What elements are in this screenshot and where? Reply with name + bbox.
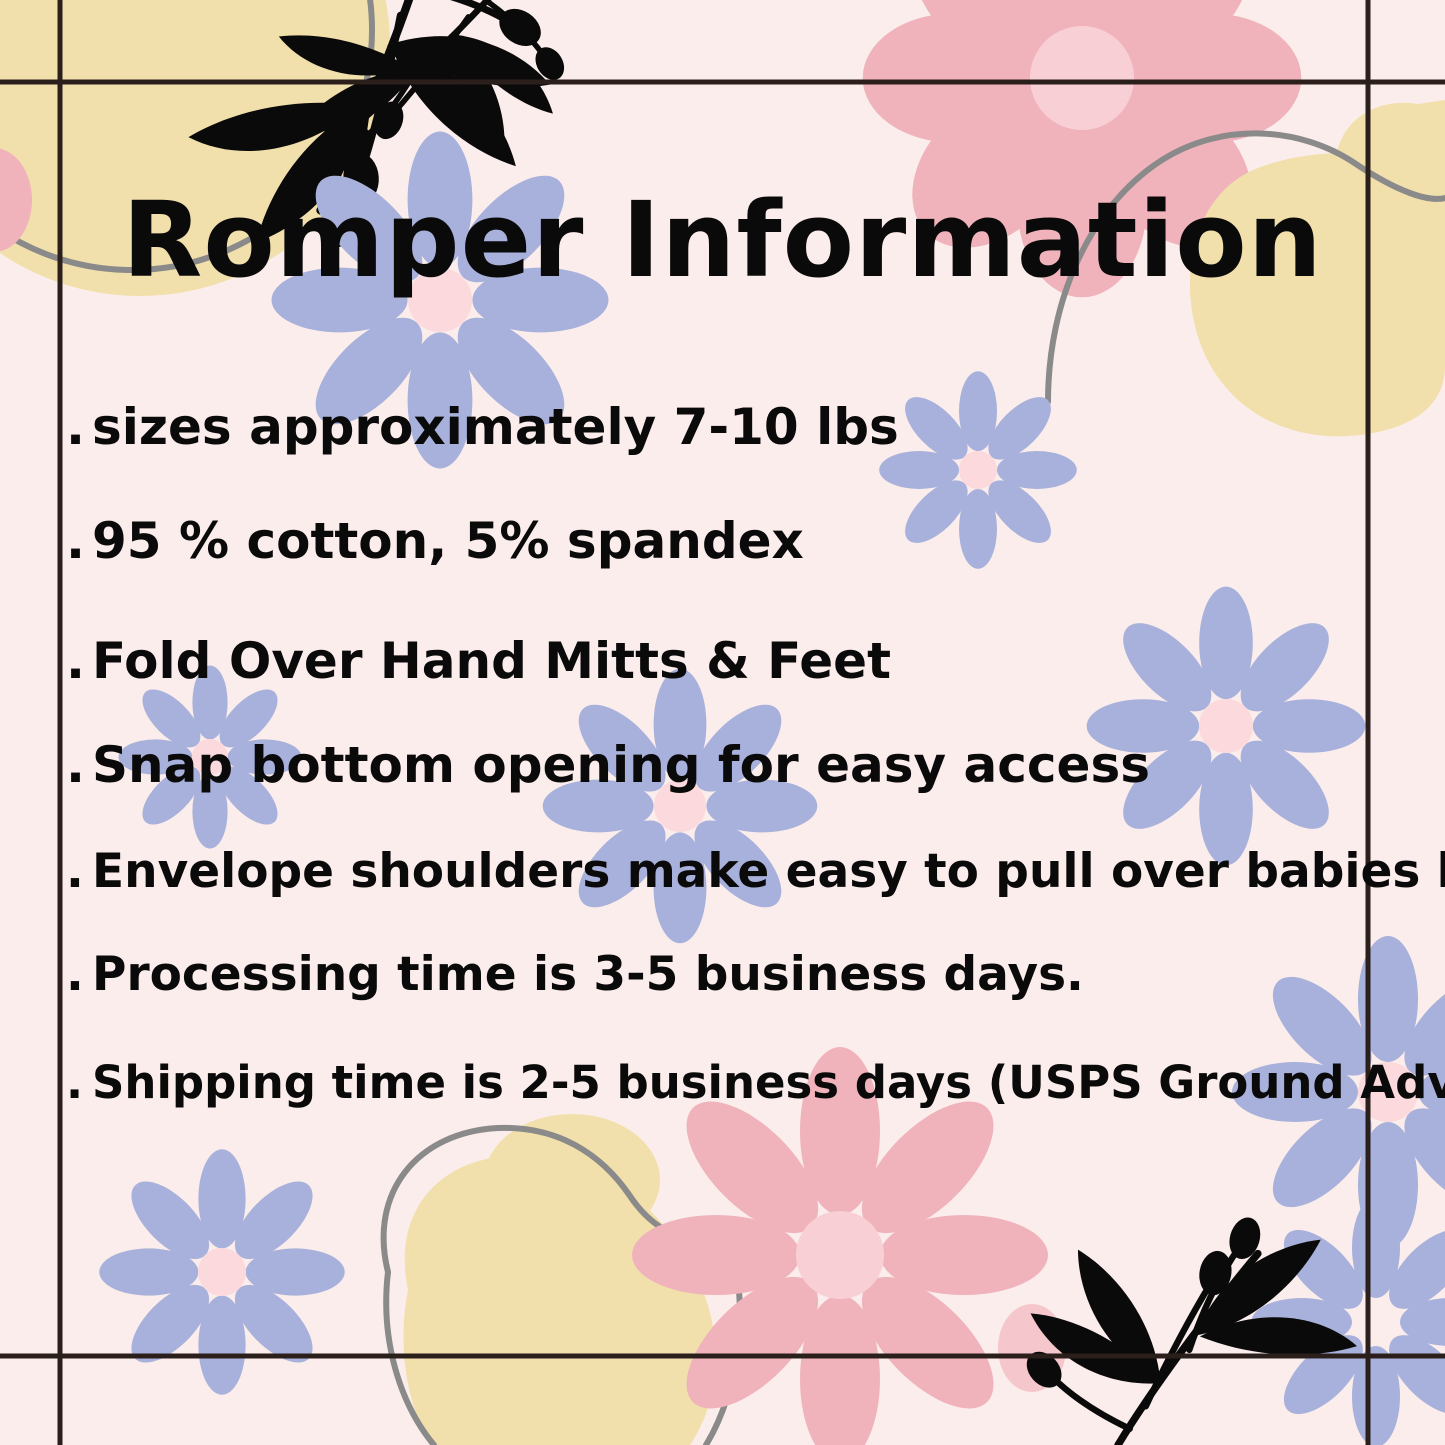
list-item-label: Snap bottom opening for easy access — [92, 736, 1150, 794]
list-item: . Processing time is 3-5 business days. — [66, 947, 1416, 1002]
bullet-marker: . — [66, 947, 92, 1002]
list-item-label: 95 % cotton, 5% spandex — [92, 512, 804, 570]
list-item-label: Envelope shoulders make easy to pull ove… — [92, 844, 1445, 899]
bullet-marker: . — [66, 512, 92, 570]
list-item: . Snap bottom opening for easy access — [66, 736, 1416, 794]
page-title: Romper Information — [0, 186, 1445, 295]
list-item: . sizes approximately 7-10 lbs — [66, 398, 1416, 456]
bullet-marker: . — [66, 736, 92, 794]
list-item-label: Shipping time is 2-5 business days (USPS… — [92, 1056, 1445, 1109]
list-item: . Fold Over Hand Mitts & Feet — [66, 632, 1416, 690]
list-item: . Shipping time is 2-5 business days (US… — [66, 1056, 1416, 1109]
list-item: . 95 % cotton, 5% spandex — [66, 512, 1416, 570]
bullet-marker: . — [66, 844, 92, 899]
poster-canvas: Romper Information . sizes approximately… — [0, 0, 1445, 1445]
list-item-label: Fold Over Hand Mitts & Feet — [92, 632, 891, 690]
poster-text-layer: Romper Information . sizes approximately… — [0, 0, 1445, 1445]
list-item: . Envelope shoulders make easy to pull o… — [66, 844, 1416, 899]
bullet-marker: . — [66, 632, 92, 690]
list-item-label: sizes approximately 7-10 lbs — [92, 398, 899, 456]
list-item-label: Processing time is 3-5 business days. — [92, 947, 1084, 1002]
romper-info-list: . sizes approximately 7-10 lbs . 95 % co… — [66, 398, 1416, 1109]
bullet-marker: . — [66, 398, 92, 456]
bullet-marker: . — [66, 1056, 92, 1109]
